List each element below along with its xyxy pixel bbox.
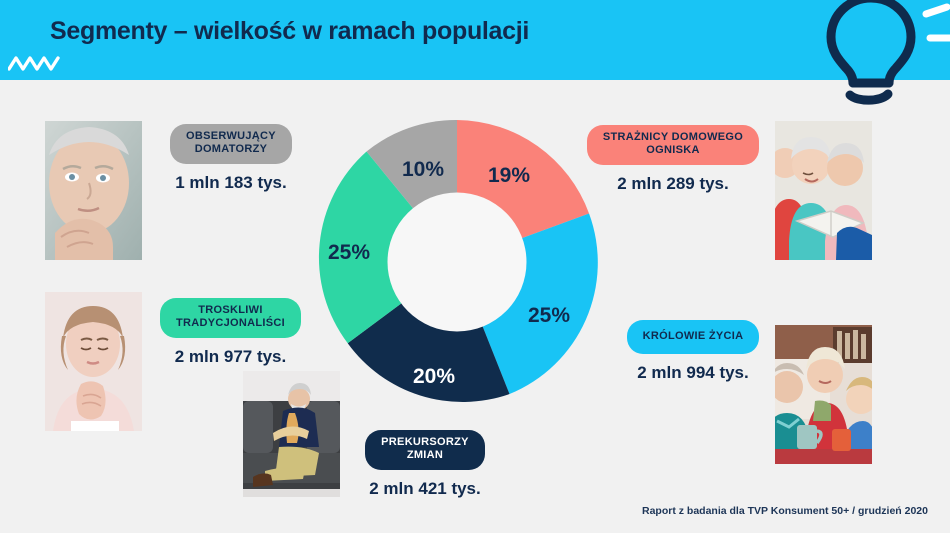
status-badge-krolowie-zycia[interactable]: KRÓLOWIE ŻYCIA	[627, 320, 760, 354]
value-krolowie-zycia: 2 mln 994 tys.	[608, 363, 778, 383]
slide-root: Segmenty – wielkość w ramach populacji	[0, 0, 950, 533]
pill-line-1: PREKURSORZY	[381, 436, 469, 448]
value-straznicy-domowego-ogniska: 2 mln 289 tys.	[578, 174, 768, 194]
callout-krolowie-zycia[interactable]: KRÓLOWIE ŻYCIA 2 mln 994 tys.	[608, 320, 778, 383]
pill-line-1: STRAŻNICY DOMOWEGO	[603, 131, 743, 143]
pill-line-2: DOMATORZY	[195, 143, 268, 155]
donut-value-straznicy-domowego-ogniska: 19%	[488, 164, 530, 188]
header-bar: Segmenty – wielkość w ramach populacji	[0, 0, 950, 80]
pill-line-1: TROSKLIWI	[198, 304, 262, 316]
status-badge-obserwujacy-domatorzy[interactable]: OBSERWUJĄCY DOMATORZY	[170, 124, 292, 164]
pill-line-2: ZMIAN	[407, 449, 443, 461]
value-obserwujacy-domatorzy: 1 mln 183 tys.	[152, 173, 310, 193]
photo-senior-man-thinking	[45, 121, 142, 260]
photo-grandparents-reading-with-children	[775, 121, 872, 260]
callout-prekursorzy-zmian[interactable]: PREKURSORZY ZMIAN 2 mln 421 tys.	[330, 430, 520, 499]
value-troskliwi-tradycjonalisci: 2 mln 977 tys.	[148, 347, 313, 367]
status-badge-prekursorzy-zmian[interactable]: PREKURSORZY ZMIAN	[365, 430, 485, 470]
pill-line-1: KRÓLOWIE ŻYCIA	[643, 330, 744, 342]
zigzag-decoration	[8, 53, 62, 73]
status-badge-straznicy-domowego-ogniska[interactable]: STRAŻNICY DOMOWEGO OGNISKA	[587, 125, 759, 165]
photo-woman-hands-clasped	[45, 292, 142, 431]
callout-straznicy-domowego-ogniska[interactable]: STRAŻNICY DOMOWEGO OGNISKA 2 mln 289 tys…	[578, 125, 768, 194]
callout-obserwujacy-domatorzy[interactable]: OBSERWUJĄCY DOMATORZY 1 mln 183 tys.	[152, 124, 310, 193]
donut-value-obserwujacy-domatorzy: 10%	[402, 158, 444, 182]
value-prekursorzy-zmian: 2 mln 421 tys.	[330, 479, 520, 499]
footer-note: Raport z badania dla TVP Konsument 50+ /…	[642, 505, 928, 517]
photo-man-reading-on-sofa	[243, 371, 340, 497]
donut-chart: 19% 25% 20% 25% 10%	[313, 118, 601, 406]
donut-value-krolowie-zycia: 25%	[528, 304, 570, 328]
photo-family-with-mugs	[775, 325, 872, 464]
status-badge-troskliwi-tradycjonalisci[interactable]: TROSKLIWI TRADYCJONALIŚCI	[160, 298, 301, 338]
pill-line-1: OBSERWUJĄCY	[186, 130, 276, 142]
pill-line-2: OGNISKA	[646, 144, 699, 156]
callout-troskliwi-tradycjonalisci[interactable]: TROSKLIWI TRADYCJONALIŚCI 2 mln 977 tys.	[148, 298, 313, 367]
donut-value-troskliwi-tradycjonalisci: 25%	[328, 241, 370, 265]
donut-hole	[388, 193, 527, 332]
page-title: Segmenty – wielkość w ramach populacji	[50, 17, 529, 46]
donut-value-prekursorzy-zmian: 20%	[413, 365, 455, 389]
pill-line-2: TRADYCJONALIŚCI	[176, 317, 285, 329]
